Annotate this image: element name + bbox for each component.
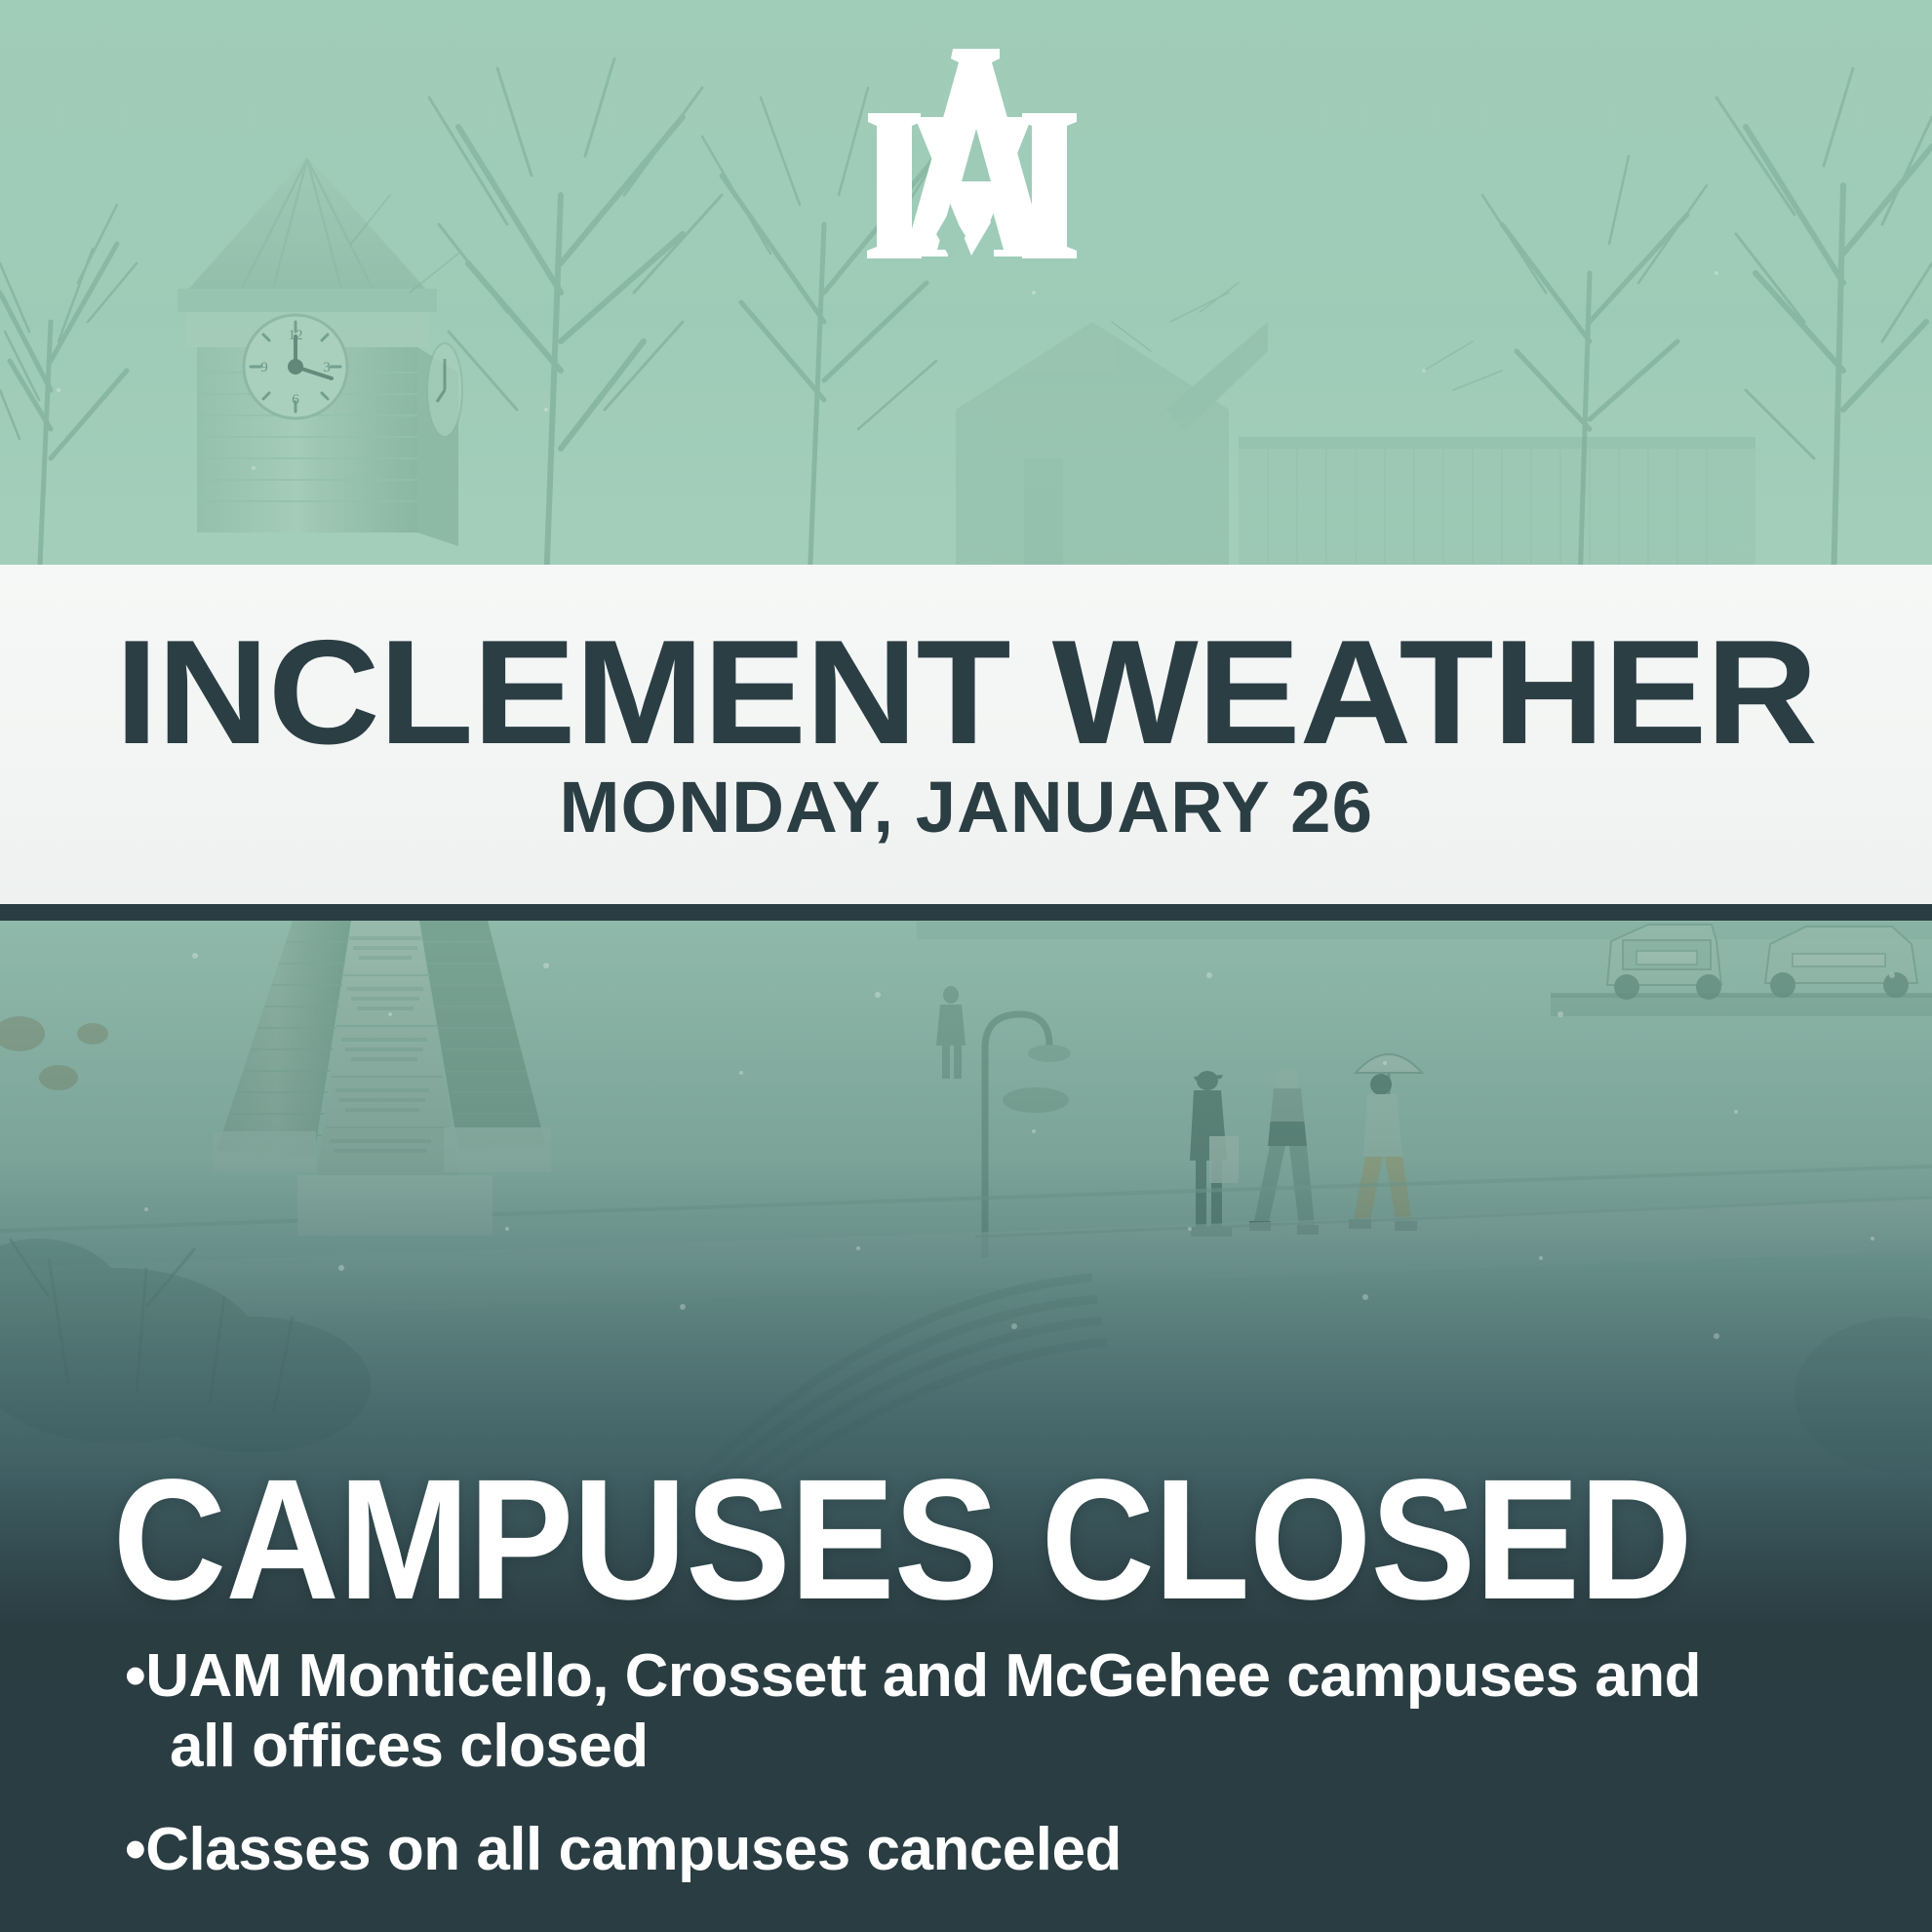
uam-monogram-icon xyxy=(831,43,1114,262)
headline-banner: INCLEMENT WEATHER MONDAY, JANUARY 26 xyxy=(0,565,1932,904)
page-title: INCLEMENT WEATHER xyxy=(115,625,1817,762)
bullet-marker: • xyxy=(125,1816,145,1883)
announcement-title: CAMPUSES CLOSED xyxy=(0,1462,1692,1620)
uam-monogram-logo xyxy=(831,43,1114,262)
announcement-block: CAMPUSES CLOSED •UAM Monticello, Crosset… xyxy=(0,1462,1932,1932)
list-item: •Classes on all campuses canceled xyxy=(125,1815,1769,1885)
clock-face-side xyxy=(427,343,462,437)
banner-divider-bar xyxy=(0,904,1932,921)
banner-date: MONDAY, JANUARY 26 xyxy=(559,771,1373,844)
svg-text:6: 6 xyxy=(292,392,299,408)
inclement-weather-poster: 12 3 6 9 xyxy=(0,0,1932,1932)
svg-text:9: 9 xyxy=(260,360,268,375)
clock-face-front: 12 3 6 9 xyxy=(244,315,347,418)
svg-text:3: 3 xyxy=(323,360,331,375)
list-item-text: Classes on all campuses canceled xyxy=(145,1816,1122,1883)
list-item-text: UAM Monticello, Crossett and McGehee cam… xyxy=(145,1642,1701,1780)
bullet-marker: • xyxy=(125,1642,145,1710)
announcement-bullet-list: •UAM Monticello, Crossett and McGehee ca… xyxy=(0,1641,1932,1885)
list-item: •UAM Monticello, Crossett and McGehee ca… xyxy=(125,1641,1769,1782)
